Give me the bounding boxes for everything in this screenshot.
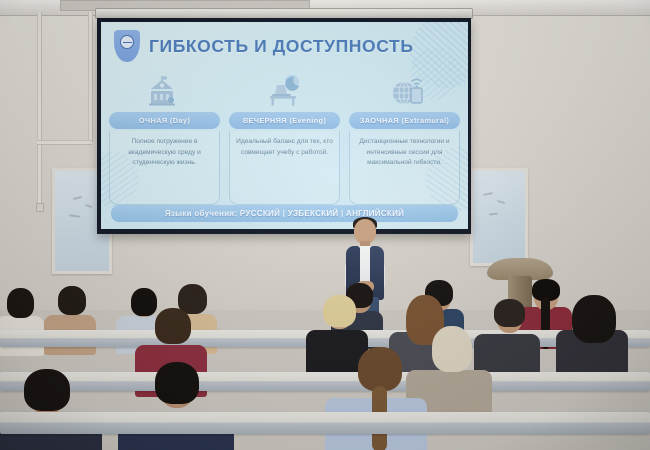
lecture-hall-scene: ГИБКОСТЬ И ДОСТУПНОСТЬ bbox=[0, 0, 650, 450]
slide-column-evening: ВЕЧЕРНЯЯ (Evening) Идеальный баланс для … bbox=[229, 112, 340, 205]
wall-conduit-vertical-1 bbox=[37, 12, 42, 212]
slide-column-extramural: ЗАОЧНАЯ (Extramural) Дистанционные техно… bbox=[349, 112, 460, 205]
university-building-icon bbox=[101, 72, 223, 106]
presentation-slide: ГИБКОСТЬ И ДОСТУПНОСТЬ bbox=[101, 22, 468, 229]
wall-outlet bbox=[36, 203, 44, 212]
column-body-extramural: Дистанционные технологии и интенсивные с… bbox=[349, 131, 460, 205]
globe-wifi-tablet-icon bbox=[346, 72, 468, 106]
column-chip-extramural: ЗАОЧНАЯ (Extramural) bbox=[349, 112, 460, 129]
column-chip-evening: ВЕЧЕРНЯЯ (Evening) bbox=[229, 112, 340, 129]
column-chip-day: ОЧНАЯ (Day) bbox=[109, 112, 220, 129]
university-crest-icon bbox=[114, 30, 140, 62]
projection-screen: ГИБКОСТЬ И ДОСТУПНОСТЬ bbox=[97, 18, 471, 234]
slide-title: ГИБКОСТЬ И ДОСТУПНОСТЬ bbox=[149, 36, 414, 57]
whiteboard-right bbox=[470, 168, 528, 266]
desk-row-front bbox=[0, 412, 650, 434]
slide-columns: ОЧНАЯ (Day) Полное погружение в академич… bbox=[109, 112, 460, 205]
desk-row-middle bbox=[0, 372, 650, 391]
column-body-evening: Идеальный баланс для тех, кто совмещает … bbox=[229, 131, 340, 205]
languages-banner: Языки обучения: РУССКИЙ | УЗБЕКСКИЙ | АН… bbox=[111, 205, 458, 222]
slide-column-day: ОЧНАЯ (Day) Полное погружение в академич… bbox=[109, 112, 220, 205]
slide-icons-row bbox=[101, 72, 468, 106]
column-body-day: Полное погружение в академическую среду … bbox=[109, 131, 220, 205]
slide-header: ГИБКОСТЬ И ДОСТУПНОСТЬ bbox=[114, 30, 414, 62]
wall-conduit-horizontal bbox=[37, 140, 92, 145]
desk-laptop-moon-icon bbox=[223, 72, 345, 106]
wall-conduit-vertical-2 bbox=[88, 12, 93, 142]
